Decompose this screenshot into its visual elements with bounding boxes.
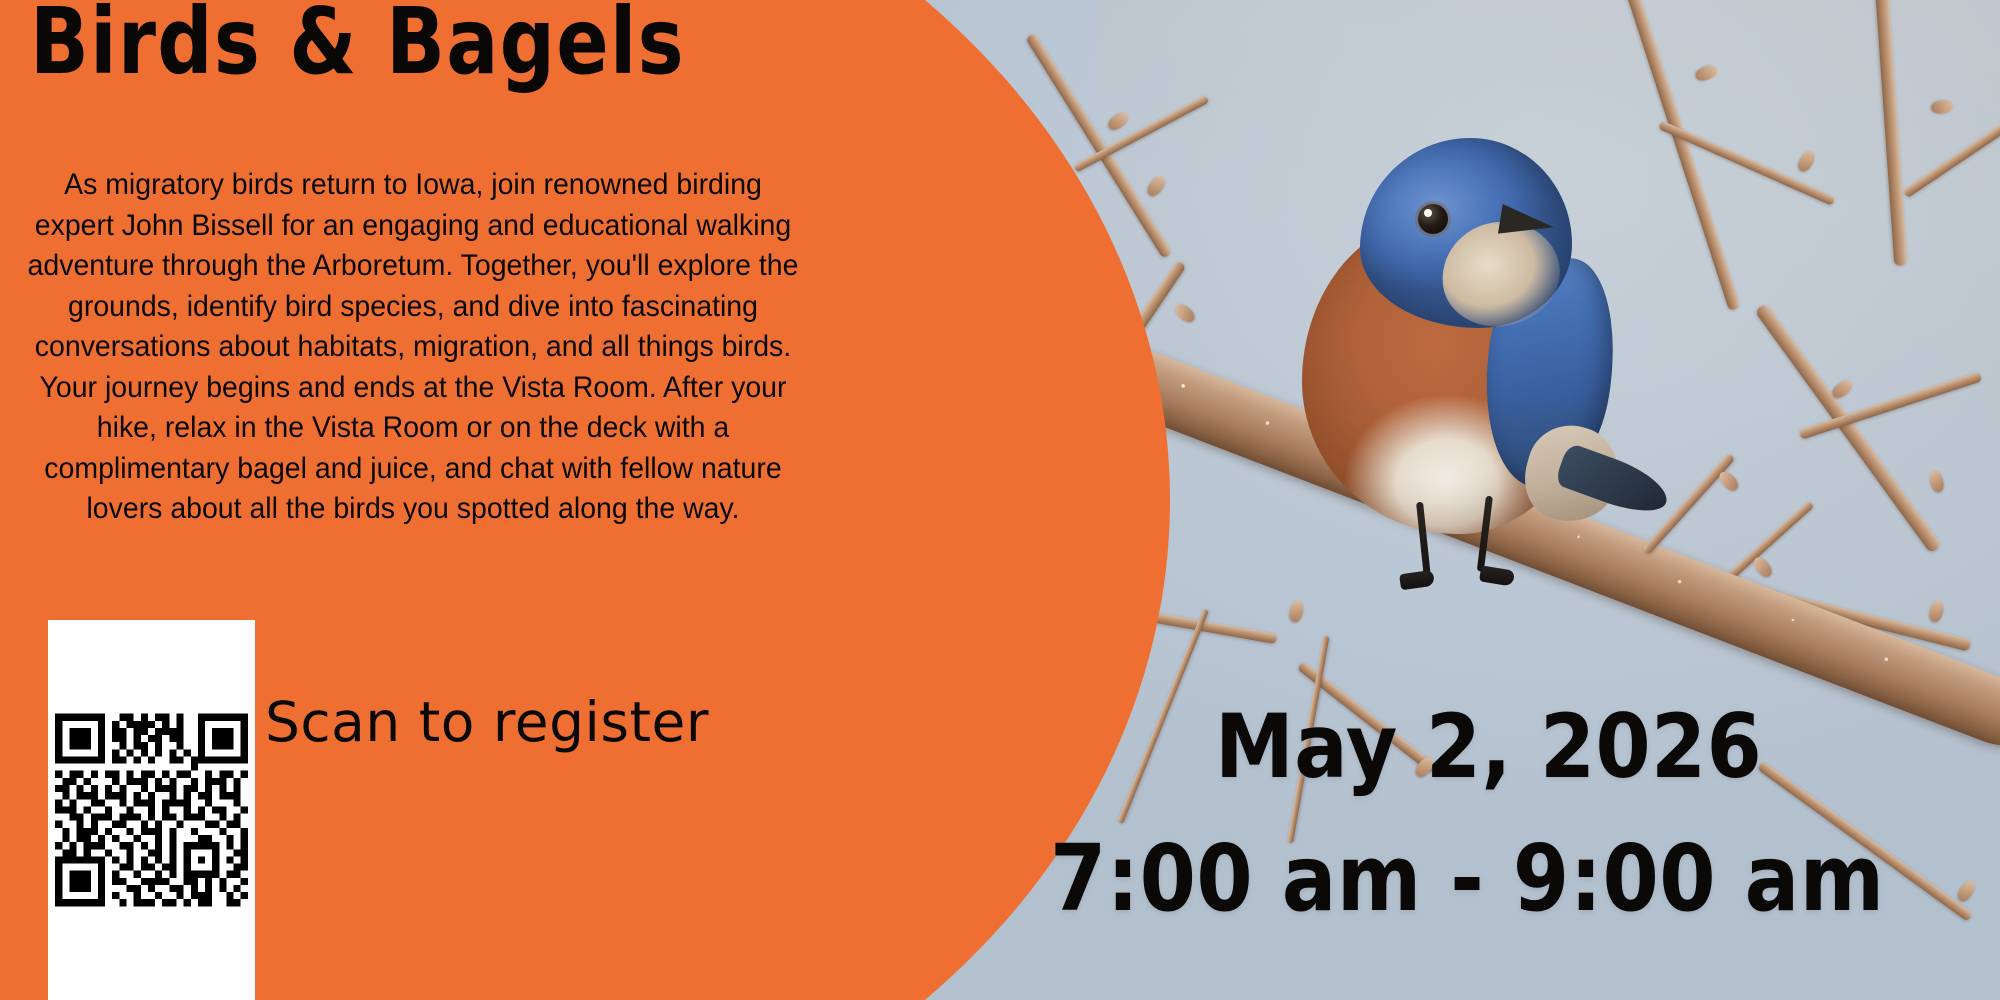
bird-eye	[1418, 204, 1448, 234]
event-date: May 2, 2026	[1215, 695, 1762, 798]
description-paragraph-1: As migratory birds return to Iowa, join …	[22, 165, 804, 368]
qr-code-icon	[48, 620, 255, 1000]
scan-to-register-label: Scan to register	[265, 690, 709, 754]
event-description: As migratory birds return to Iowa, join …	[22, 165, 804, 530]
eastern-bluebird	[1290, 130, 1650, 550]
registration-qr-code[interactable]	[48, 620, 255, 1000]
event-flyer: Birds & Bagels As migratory birds return…	[0, 0, 2000, 1000]
event-time: 7:00 am - 9:00 am	[1050, 825, 1885, 932]
page-title: Birds & Bagels	[30, 0, 727, 93]
description-paragraph-2: Your journey begins and ends at the Vist…	[22, 368, 804, 530]
